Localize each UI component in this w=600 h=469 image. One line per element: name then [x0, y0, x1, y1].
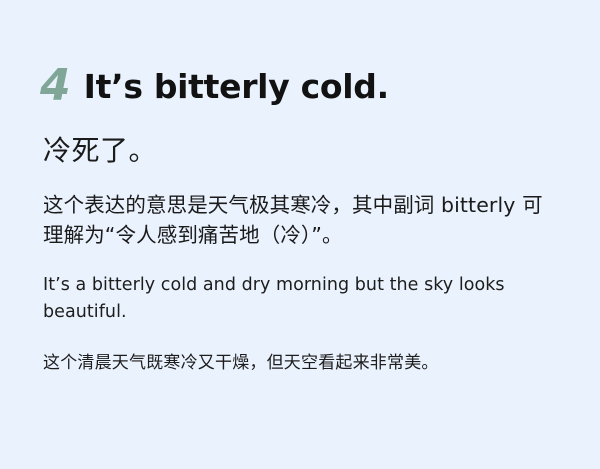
entry-number: 4 — [40, 64, 70, 108]
entry-heading: 4 It’s bitterly cold. — [40, 62, 560, 118]
lesson-card: 4 It’s bitterly cold. 冷死了。 这个表达的意思是天气极其寒… — [0, 0, 600, 469]
chinese-headline: 冷死了。 — [43, 134, 560, 168]
example-sentence-chinese: 这个清晨天气既寒冷又干燥，但天空看起来非常美。 — [43, 351, 560, 377]
entry-title: It’s bitterly cold. — [84, 70, 389, 103]
explanation-paragraph: 这个表达的意思是天气极其寒冷，其中副词 bitterly 可理解为“令人感到痛苦… — [43, 190, 560, 251]
example-sentence-english: It’s a bitterly cold and dry morning but… — [43, 272, 551, 325]
